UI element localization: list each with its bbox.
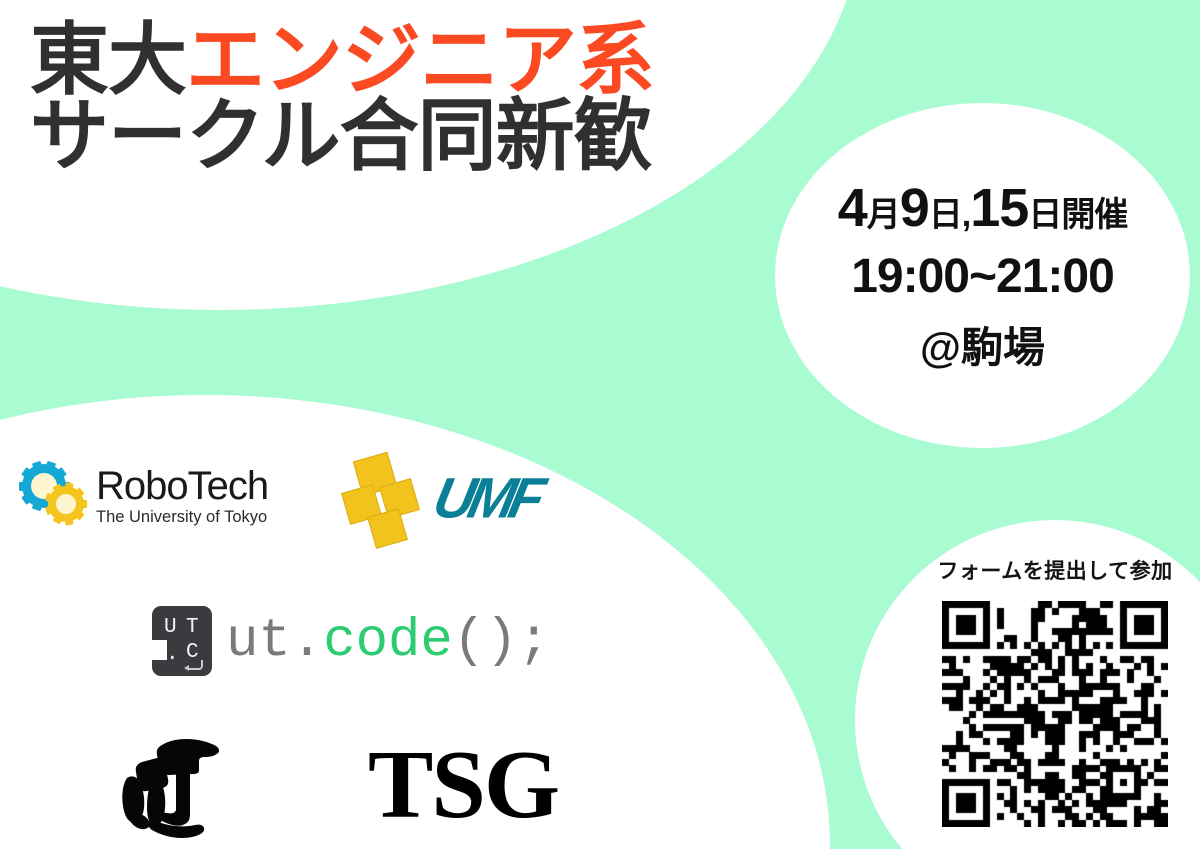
date-day2-unit: 日 xyxy=(1028,187,1061,236)
utc-char-u: U xyxy=(164,617,177,638)
poster-canvas: 東大エンジニア系 サークル合同新歓 4月9日,15日開催 19:00~21:00… xyxy=(0,0,1200,849)
utcode-suffix: (); xyxy=(453,611,550,672)
utc-badge-icon: U T . C xyxy=(152,606,212,676)
date-line: 4月9日,15日開催 xyxy=(838,177,1128,239)
title-line-1: 東大エンジニア系 xyxy=(30,22,654,98)
date-suffix: 開催 xyxy=(1061,187,1127,236)
umf-wordmark: UMF xyxy=(428,464,545,530)
utcode-prefix: ut. xyxy=(226,611,323,672)
logo-tsg[interactable]: TSG xyxy=(368,736,558,834)
brush-kanji-icon xyxy=(105,728,223,838)
utcode-middle: code xyxy=(323,611,453,672)
gears-icon xyxy=(22,462,90,530)
title-line-2: サークル合同新歓 xyxy=(30,98,654,174)
return-arrow-icon xyxy=(188,660,203,670)
logo-utcode[interactable]: U T . C ut.code(); xyxy=(152,606,550,676)
utcode-wordmark: ut.code(); xyxy=(226,611,550,672)
qr-caption: フォームを提出して参加 xyxy=(937,555,1172,585)
gear-small-icon xyxy=(48,486,84,522)
robotech-text: RoboTech The University of Tokyo xyxy=(96,466,268,526)
logo-robotech[interactable]: RoboTech The University of Tokyo xyxy=(22,462,268,530)
qr-code-icon[interactable] xyxy=(942,601,1168,827)
qr-block: フォームを提出して参加 xyxy=(855,520,1200,849)
poster-title: 東大エンジニア系 サークル合同新歓 xyxy=(30,22,654,174)
date-info-block: 4月9日,15日開催 19:00~21:00 @駒場 xyxy=(775,103,1190,448)
date-day1-unit: 日 xyxy=(929,187,962,236)
robotech-name: RoboTech xyxy=(96,466,268,506)
robotech-subtitle: The University of Tokyo xyxy=(96,509,268,526)
utc-char-t: T xyxy=(186,617,199,638)
date-month-unit: 月 xyxy=(867,187,900,236)
date-day2-number: 15 xyxy=(970,177,1028,239)
date-month-number: 4 xyxy=(838,177,867,239)
logo-brush-kanji[interactable] xyxy=(105,728,223,838)
tsg-wordmark: TSG xyxy=(368,736,558,834)
logo-umf[interactable]: UMF xyxy=(345,454,538,540)
event-time: 19:00~21:00 xyxy=(851,249,1114,304)
utc-char-dot: . xyxy=(166,644,179,665)
event-place: @駒場 xyxy=(920,314,1045,375)
four-tilted-squares-icon xyxy=(345,454,421,540)
date-day1-number: 9 xyxy=(900,177,929,239)
date-separator: , xyxy=(962,196,970,235)
